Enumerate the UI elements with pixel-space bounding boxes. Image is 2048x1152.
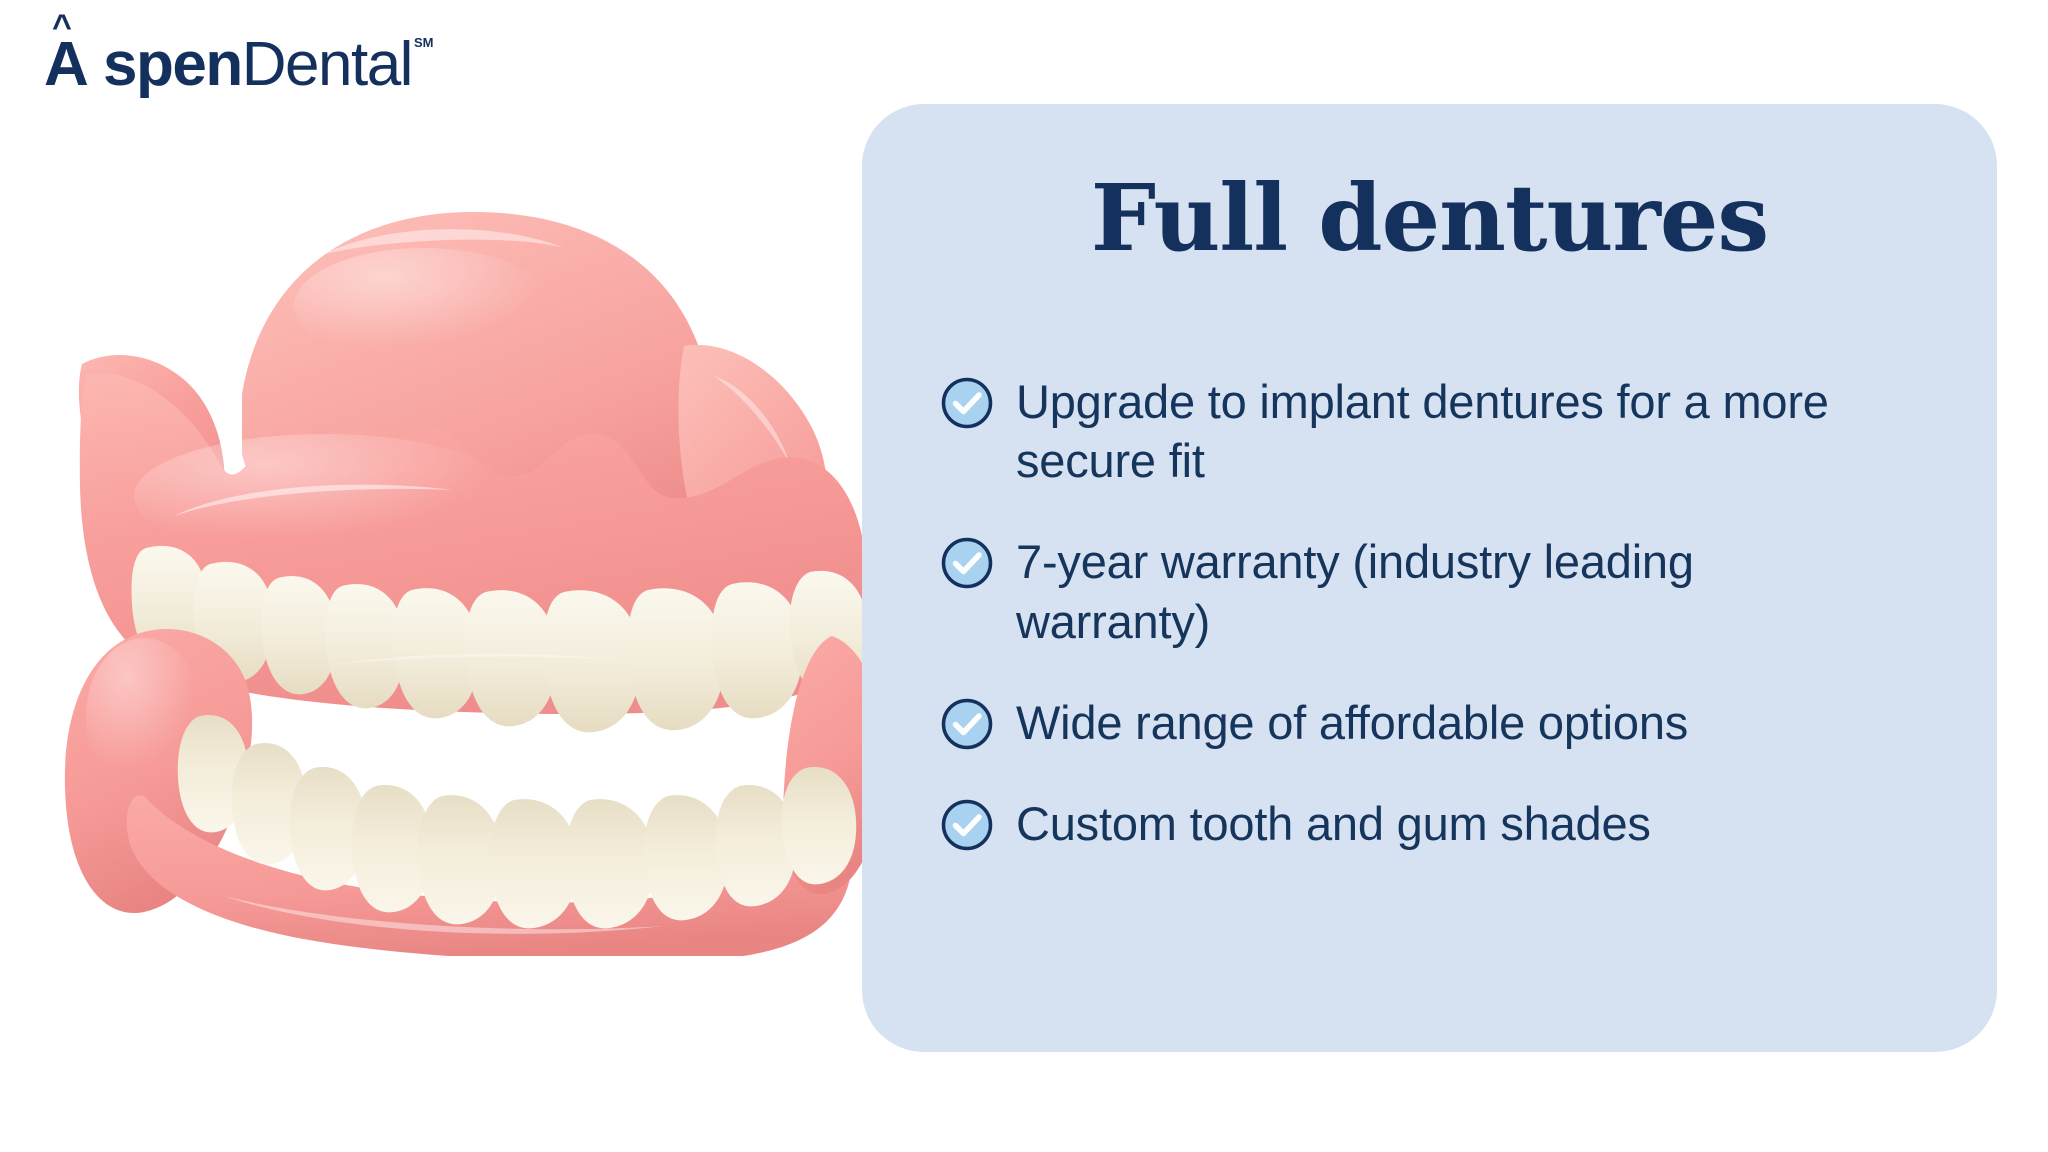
logo-brand-first-rest: spen (103, 30, 242, 99)
list-item-label: 7-year warranty (industry leading warran… (1016, 532, 1896, 650)
logo-brand-second: Dental (242, 30, 412, 99)
list-item-label: Wide range of affordable options (1016, 693, 1688, 752)
logo-accent-a: ^AAspen (44, 30, 103, 99)
list-item-label: Upgrade to implant dentures for a more s… (1016, 372, 1916, 490)
check-circle-icon (940, 697, 994, 751)
list-item: Custom tooth and gum shades (940, 794, 1940, 853)
logo-servicemark-icon: SM (414, 36, 434, 49)
logo-wordmark: ^AAspen spenDental (44, 34, 412, 96)
check-circle-icon (940, 376, 994, 430)
list-item: Upgrade to implant dentures for a more s… (940, 372, 1940, 490)
check-circle-icon (940, 798, 994, 852)
page-title: Full dentures (862, 172, 1997, 264)
full-dentures-info-card: Full dentures Upgrade to implant denture… (862, 104, 1997, 1052)
full-denture-set-photo (24, 196, 904, 956)
list-item-label: Custom tooth and gum shades (1016, 794, 1651, 853)
aspen-dental-logo[interactable]: ^AAspen spenDental SM (44, 34, 433, 96)
check-circle-icon (940, 536, 994, 590)
feature-bullet-list: Upgrade to implant dentures for a more s… (940, 372, 1940, 853)
list-item: 7-year warranty (industry leading warran… (940, 532, 1940, 650)
list-item: Wide range of affordable options (940, 693, 1940, 752)
